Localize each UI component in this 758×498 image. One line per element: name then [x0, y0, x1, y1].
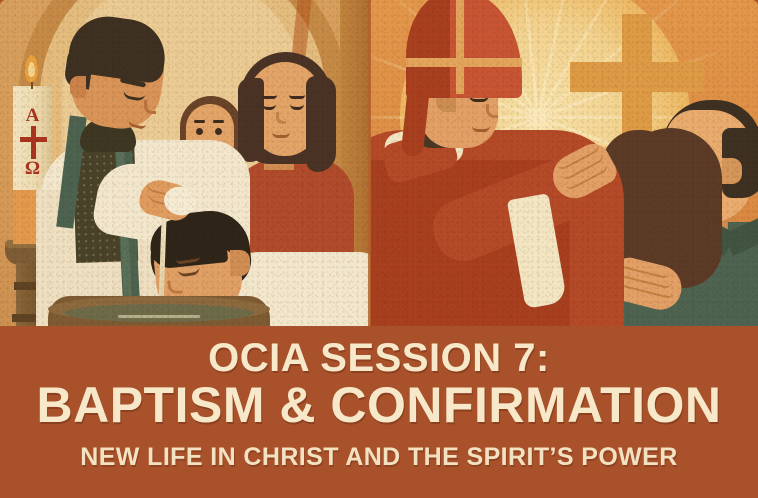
mitre-horizontal-band: [406, 58, 522, 67]
child-eye-right: [215, 128, 222, 135]
baptism-scene-panel: A Ω: [0, 0, 370, 330]
priest-ear: [70, 76, 86, 98]
ocia-session-poster: A Ω: [0, 0, 758, 498]
child-eyebrow-right: [213, 120, 224, 123]
confirmation-scene-panel: [370, 0, 758, 330]
cross-icon-horizontal: [570, 62, 704, 92]
mother-hair-right-lock: [306, 76, 336, 172]
mother-hair-left-lock: [238, 78, 264, 162]
child-eye-left: [196, 128, 203, 135]
mother-nose: [276, 112, 286, 124]
alpha-symbol: A: [13, 106, 52, 125]
title-line-two: BAPTISM & CONFIRMATION: [36, 378, 721, 432]
subtitle: NEW LIFE IN CHRIST AND THE SPIRIT’S POWE…: [80, 442, 677, 472]
mitre-vertical-band: [456, 0, 464, 94]
candle-flame-inner: [28, 62, 35, 77]
title-banner: OCIA SESSION 7: BAPTISM & CONFIRMATION N…: [0, 326, 758, 498]
candle-cross-vertical: [31, 126, 36, 159]
title-line-one: OCIA SESSION 7:: [208, 336, 550, 380]
candidate-ear: [230, 250, 250, 276]
candle-cross-horizontal: [20, 137, 47, 142]
bishop-nose: [486, 104, 498, 118]
panel-divider: [368, 0, 371, 330]
child-eyebrow-left: [194, 120, 205, 123]
baptismal-font-water: [64, 304, 254, 322]
sponsor-ear: [722, 158, 742, 184]
mother-eyebrow-left: [261, 95, 277, 99]
mother-eyebrow-right: [289, 95, 305, 99]
water-highlight: [118, 315, 200, 318]
illustration-area: A Ω: [0, 0, 758, 330]
priest-nose: [144, 100, 156, 114]
